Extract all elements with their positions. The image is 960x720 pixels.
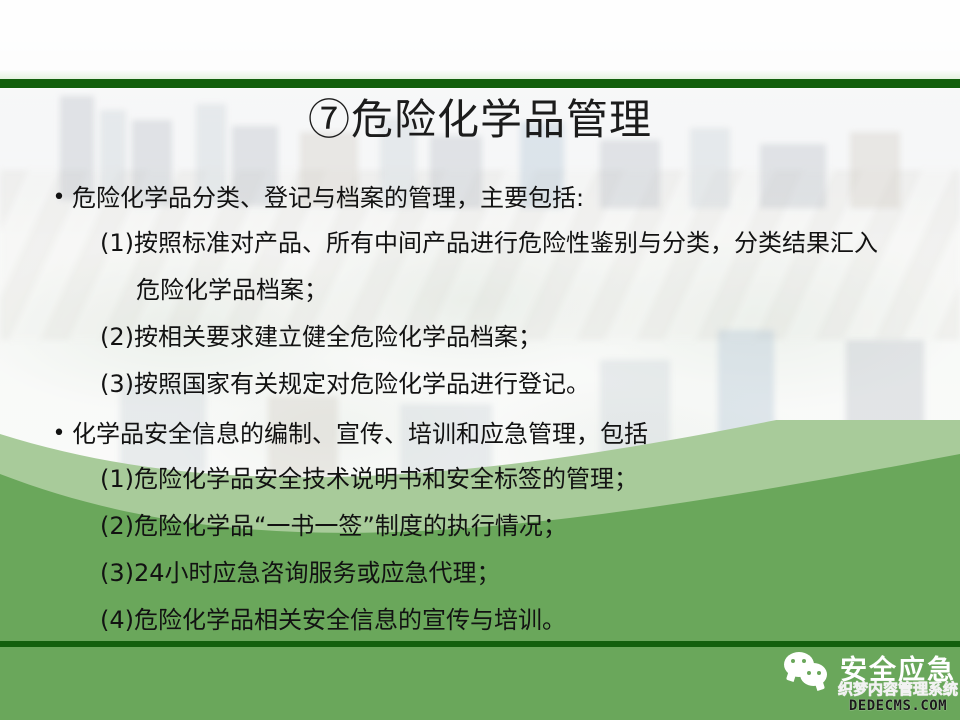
watermark: 织梦内容管理系统 DEDECMS.COM [838,682,958,713]
top-rule-glow [0,70,960,79]
list-item-text: (4)危险化学品相关安全信息的宣传与培训。 [100,606,566,634]
list-item: (3)24小时应急咨询服务或应急代理； [46,550,926,597]
list-item: (3)按照国家有关规定对危险化学品进行登记。 [46,361,926,408]
list-item: (4)危险化学品相关安全信息的宣传与培训。 [46,597,926,644]
watermark-cn-text: 织梦内容管理系统 [838,682,958,697]
wechat-dot [791,659,795,663]
bullet-heading-text: 化学品安全信息的编制、宣传、培训和应急管理，包括 [72,412,926,456]
list-item: (2)危险化学品“一书一签”制度的执行情况； [46,503,926,550]
list-item-continuation: 危险化学品档案； [100,267,926,314]
slide-canvas: ⑦危险化学品管理 • 危险化学品分类、登记与档案的管理，主要包括: (1)按照标… [0,0,960,720]
bullet-heading: • 化学品安全信息的编制、宣传、培训和应急管理，包括 [46,412,926,456]
list-item: (2)按相关要求建立健全危险化学品档案； [46,314,926,361]
list-item-text: (1)危险化学品安全技术说明书和安全标签的管理； [100,465,638,493]
bullet-dot-icon: • [46,176,72,220]
watermark-en-text: DEDECMS.COM [838,699,958,713]
list-item-text: (3)按照国家有关规定对危险化学品进行登记。 [100,370,590,398]
bullet-dot-icon: • [46,412,72,456]
list-item: (1)按照标准对产品、所有中间产品进行危险性鉴别与分类，分类结果汇入 危险化学品… [46,220,926,314]
list-item: (1)危险化学品安全技术说明书和安全标签的管理； [46,456,926,503]
wechat-dot [802,659,806,663]
bullet-heading-text: 危险化学品分类、登记与档案的管理，主要包括: [72,176,926,220]
wechat-dot [807,671,811,675]
wechat-dot [817,671,821,675]
list-item-text: (3)24小时应急咨询服务或应急代理； [100,559,501,587]
wechat-bubble-small [800,663,827,686]
slide-body: • 危险化学品分类、登记与档案的管理，主要包括: (1)按照标准对产品、所有中间… [46,176,926,644]
list-item-text: (2)危险化学品“一书一签”制度的执行情况； [100,512,567,540]
bullet-heading: • 危险化学品分类、登记与档案的管理，主要包括: [46,176,926,220]
top-divider-rule [0,79,960,88]
list-item-text: (1)按照标准对产品、所有中间产品进行危险性鉴别与分类，分类结果汇入 [100,229,878,257]
list-item-text: (2)按相关要求建立健全危险化学品档案； [100,323,542,351]
page-title: ⑦危险化学品管理 [0,94,960,146]
wechat-icon [784,652,830,690]
